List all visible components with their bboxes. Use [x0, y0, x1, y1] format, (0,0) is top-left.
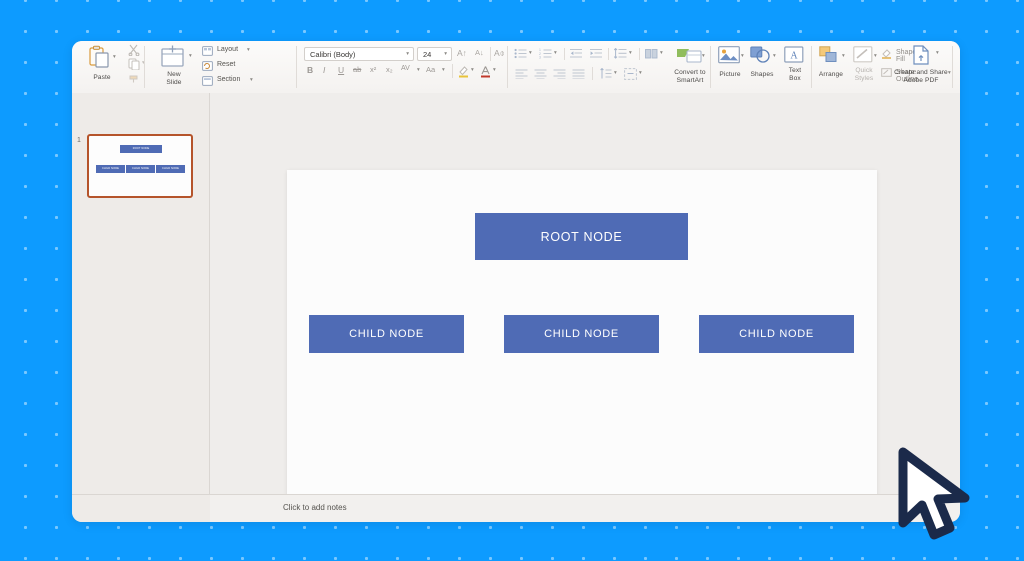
new-slide-chevron-down-icon[interactable]: ▾ — [189, 53, 192, 59]
font-color-button[interactable] — [480, 65, 491, 83]
ribbon-group-clipboard: ▾ Paste ▾ — [78, 41, 138, 93]
subscript-button[interactable]: x₂ — [386, 65, 393, 74]
font-family-chevron-down-icon[interactable]: ▾ — [406, 51, 409, 57]
picture-button[interactable] — [718, 46, 740, 70]
decrease-indent-icon[interactable] — [570, 48, 583, 59]
quick-styles-icon — [853, 46, 873, 65]
shapes-label: Shapes — [746, 71, 778, 79]
slide-editing-canvas[interactable]: ROOT NODE CHILD NODE CHILD NODE CHILD NO… — [210, 93, 960, 494]
powerpoint-window: ▾ Paste ▾ — [72, 41, 960, 522]
new-slide-label-line2: Slide — [150, 79, 198, 87]
bullet-list-icon[interactable] — [514, 48, 527, 59]
layout-chevron-down-icon[interactable]: ▾ — [247, 47, 250, 53]
text-highlight-button[interactable] — [458, 65, 469, 83]
notes-placeholder: Click to add notes — [283, 503, 347, 512]
section-chevron-down-icon[interactable]: ▾ — [250, 77, 253, 83]
slide-number-label: 1 — [77, 137, 81, 144]
layout-label: Layout — [217, 46, 238, 53]
shrink-font-icon[interactable]: A↓ — [475, 48, 484, 57]
adobe-pdf-icon — [911, 45, 931, 67]
paste-icon — [86, 45, 112, 73]
shapes-button[interactable] — [750, 46, 772, 70]
notes-pane[interactable]: Click to add notes — [210, 494, 960, 522]
section-label: Section — [217, 76, 240, 83]
reset-icon — [202, 61, 213, 71]
font-color-chevron-down-icon[interactable]: ▾ — [493, 67, 496, 73]
character-spacing-chevron-down-icon[interactable]: ▾ — [417, 67, 420, 73]
text-direction-icon[interactable] — [599, 68, 612, 80]
columns-chevron-down-icon[interactable]: ▾ — [660, 50, 663, 56]
child-node-label: CHILD NODE — [544, 328, 619, 340]
shape-child-node-2[interactable]: CHILD NODE — [504, 315, 659, 353]
align-text-icon[interactable] — [624, 68, 637, 80]
thumbnail-child-node: CHILD NODE — [126, 165, 155, 173]
grow-font-icon[interactable]: A↑ — [457, 48, 467, 58]
shape-child-node-1[interactable]: CHILD NODE — [309, 315, 464, 353]
shape-child-node-3[interactable]: CHILD NODE — [699, 315, 854, 353]
slide-thumbnail-pane[interactable]: 1 ROOT NODE CHILD NODE CHILD NODE CHILD … — [72, 93, 210, 494]
convert-to-smartart-button[interactable] — [675, 45, 703, 72]
new-slide-button[interactable] — [160, 45, 186, 69]
underline-button[interactable]: U — [338, 65, 344, 75]
copy-icon[interactable] — [128, 58, 141, 70]
layout-icon — [202, 46, 213, 56]
ribbon-toolbar: ▾ Paste ▾ — [72, 41, 960, 94]
convert-to-smartart-icon — [675, 45, 703, 67]
font-family-select[interactable]: Calibri (Body) ▾ — [304, 47, 414, 61]
format-painter-icon[interactable] — [128, 72, 141, 84]
justify-icon[interactable] — [572, 69, 585, 79]
thumbnail-child-label: CHILD NODE — [156, 165, 185, 173]
ribbon-separator — [507, 46, 508, 88]
text-highlight-icon — [458, 65, 469, 78]
font-color-icon — [480, 65, 491, 78]
shape-root-node[interactable]: ROOT NODE — [475, 213, 688, 260]
slide-surface[interactable]: ROOT NODE CHILD NODE CHILD NODE CHILD NO… — [287, 170, 877, 503]
change-case-chevron-down-icon[interactable]: ▾ — [442, 67, 445, 73]
bold-button[interactable]: B — [307, 65, 313, 75]
ribbon-separator — [811, 46, 812, 88]
thumbnail-root-label: ROOT NODE — [120, 145, 162, 153]
quick-styles-chevron-down-icon[interactable]: ▾ — [874, 53, 877, 59]
picture-chevron-down-icon[interactable]: ▾ — [741, 53, 744, 59]
arrange-chevron-down-icon[interactable]: ▾ — [842, 53, 845, 59]
arrange-label: Arrange — [813, 71, 849, 79]
ribbon-group-slides: ▾ New Slide Layout ▾ Reset — [150, 41, 290, 93]
font-size-value: 24 — [423, 50, 431, 59]
reset-label: Reset — [217, 61, 235, 68]
new-slide-icon — [160, 45, 186, 69]
superscript-button[interactable]: x² — [370, 65, 376, 74]
text-box-label-line1: Text — [780, 67, 810, 75]
character-spacing-button[interactable]: AV — [401, 65, 410, 72]
svg-text:A: A — [790, 51, 798, 62]
italic-button[interactable]: I — [323, 65, 325, 75]
ribbon-group-paragraph: ▾ 1 2 3 ▾ ▾ — [512, 41, 707, 93]
root-node-label: ROOT NODE — [541, 230, 623, 244]
ribbon-group-insert: ▾ Picture ▾ Shapes A Text Box — [714, 41, 809, 93]
paste-chevron-down-icon[interactable]: ▾ — [113, 54, 116, 60]
text-box-icon: A — [784, 46, 804, 65]
thumbnail-root-node: ROOT NODE — [120, 145, 162, 153]
child-node-label: CHILD NODE — [739, 328, 814, 340]
columns-icon[interactable] — [645, 49, 658, 59]
adobe-pdf-label-line2: Adobe PDF — [884, 77, 958, 85]
text-box-label-line2: Box — [780, 75, 810, 83]
scissors-icon[interactable] — [128, 44, 141, 56]
thumbnail-child-node: CHILD NODE — [156, 165, 185, 173]
new-slide-label-line1: New — [150, 71, 198, 79]
svg-text:3: 3 — [539, 55, 541, 59]
ribbon-group-adobe: Create and Share Adobe PDF — [884, 41, 960, 93]
font-family-value: Calibri (Body) — [310, 50, 355, 59]
bullets-chevron-down-icon[interactable]: ▾ — [529, 50, 532, 56]
clear-formatting-icon[interactable]: A⌽ — [494, 48, 505, 59]
line-spacing-chevron-down-icon[interactable]: ▾ — [629, 50, 632, 56]
create-share-adobe-pdf-button[interactable] — [911, 45, 931, 72]
paste-button[interactable] — [86, 45, 112, 73]
ribbon-group-font: Calibri (Body) ▾ 24 ▾ A↑ A↓ A⌽ B I U ab … — [302, 41, 502, 93]
font-size-select[interactable]: 24 ▾ — [417, 47, 452, 61]
align-right-icon[interactable] — [553, 69, 566, 79]
section-icon — [202, 76, 213, 86]
thumbnail-pane-footer — [72, 494, 211, 522]
quick-styles-label-line2: Styles — [849, 75, 879, 83]
convert-to-smartart-label-line2: SmartArt — [664, 77, 716, 85]
numbered-list-icon[interactable]: 1 2 3 — [539, 48, 552, 59]
thumbnail-child-label: CHILD NODE — [96, 165, 125, 173]
ribbon-separator — [710, 46, 711, 88]
mouse-pointer-icon — [893, 447, 983, 543]
smartart-chevron-down-icon[interactable]: ▾ — [702, 53, 705, 59]
picture-label: Picture — [714, 71, 746, 79]
thumbnail-child-label: CHILD NODE — [126, 165, 155, 173]
increase-indent-icon[interactable] — [590, 48, 603, 59]
text-direction-chevron-down-icon[interactable]: ▾ — [614, 70, 617, 76]
child-node-label: CHILD NODE — [349, 328, 424, 340]
strikethrough-button[interactable]: ab — [353, 65, 361, 74]
shapes-chevron-down-icon[interactable]: ▾ — [773, 53, 776, 59]
arrange-icon — [819, 46, 841, 65]
mouse-cursor — [893, 447, 983, 543]
picture-icon — [718, 46, 740, 65]
shapes-icon — [750, 46, 772, 65]
arrange-button[interactable] — [819, 46, 841, 70]
slide-thumbnail-1[interactable]: ROOT NODE CHILD NODE CHILD NODE CHILD NO… — [87, 134, 193, 198]
font-size-chevron-down-icon[interactable]: ▾ — [444, 51, 447, 57]
thumbnail-child-node: CHILD NODE — [96, 165, 125, 173]
convert-to-smartart-label-line1: Convert to — [664, 69, 716, 77]
align-center-icon[interactable] — [534, 69, 547, 79]
ribbon-separator — [296, 46, 297, 88]
line-spacing-icon[interactable] — [614, 48, 627, 59]
align-text-chevron-down-icon[interactable]: ▾ — [639, 70, 642, 76]
change-case-button[interactable]: Aa — [426, 65, 435, 74]
quick-styles-label-line1: Quick — [849, 67, 879, 75]
align-left-icon[interactable] — [515, 69, 528, 79]
ribbon-separator — [144, 46, 145, 88]
highlight-chevron-down-icon[interactable]: ▾ — [471, 67, 474, 73]
adobe-pdf-label-line1: Create and Share — [884, 69, 958, 77]
numbering-chevron-down-icon[interactable]: ▾ — [554, 50, 557, 56]
paste-label: Paste — [78, 74, 126, 82]
